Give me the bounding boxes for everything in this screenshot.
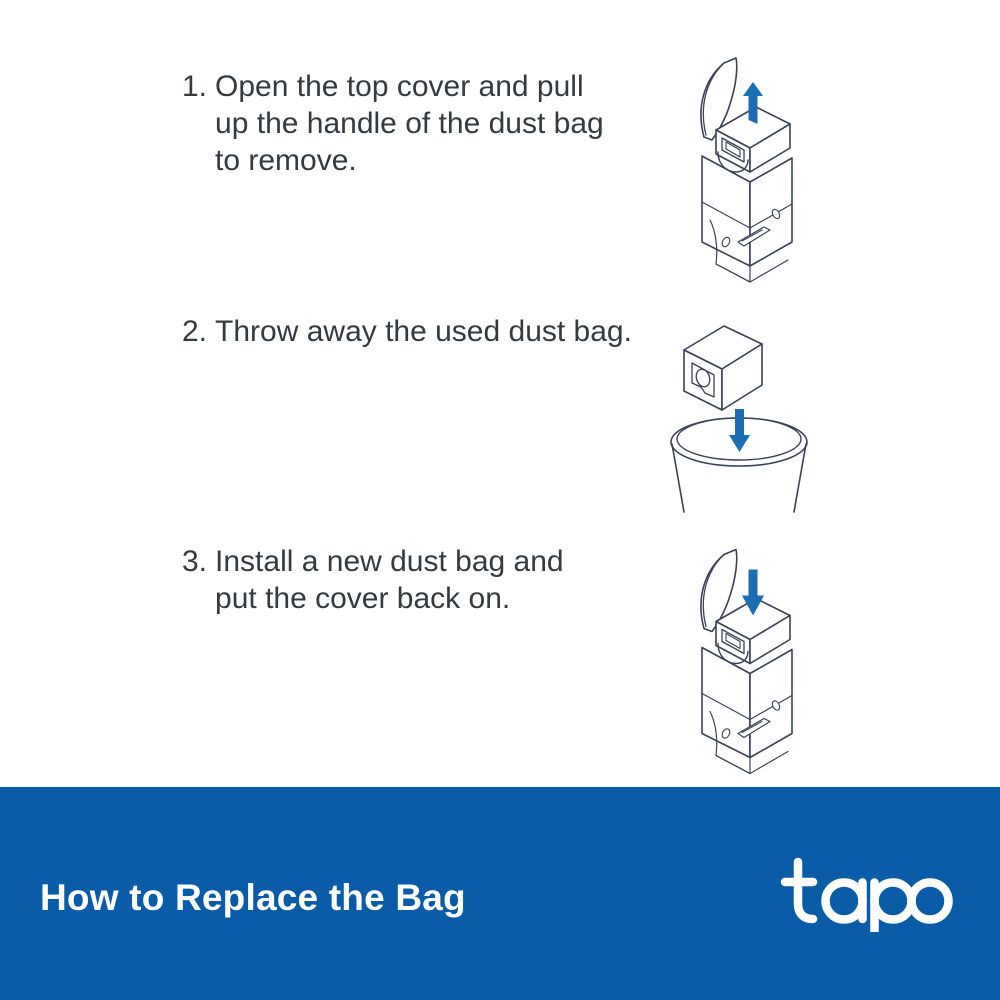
step-3: 3. Install a new dust bag and put the co… bbox=[0, 535, 1000, 787]
tapo-logo bbox=[778, 856, 954, 937]
step-1-number: 1. bbox=[182, 68, 215, 105]
dock-open-lid-bag-up-icon bbox=[660, 52, 810, 292]
step-1-body: Open the top cover and pull up the handl… bbox=[215, 68, 615, 179]
dock-open-lid-bag-down-icon bbox=[660, 541, 810, 786]
step-2-text: 2. Throw away the used dust bag. bbox=[0, 305, 640, 350]
step-1: 1. Open the top cover and pull up the ha… bbox=[0, 60, 1000, 300]
step-1-text: 1. Open the top cover and pull up the ha… bbox=[0, 60, 640, 179]
instruction-card-page: 1. Open the top cover and pull up the ha… bbox=[0, 0, 1000, 1000]
step-2-illustration bbox=[640, 305, 1000, 513]
footer-banner: How to Replace the Bag bbox=[0, 787, 1000, 1000]
steps-area: 1. Open the top cover and pull up the ha… bbox=[0, 0, 1000, 787]
step-3-number: 3. bbox=[182, 543, 215, 580]
step-3-text: 3. Install a new dust bag and put the co… bbox=[0, 535, 640, 617]
banner-title: How to Replace the Bag bbox=[40, 876, 466, 920]
step-2-body: Throw away the used dust bag. bbox=[215, 313, 632, 350]
step-2-number: 2. bbox=[182, 313, 215, 350]
step-3-illustration bbox=[640, 535, 1000, 786]
step-3-body: Install a new dust bag and put the cover… bbox=[215, 543, 575, 617]
tapo-wordmark-icon bbox=[778, 856, 954, 932]
dust-bag-into-trash-bin-icon bbox=[652, 313, 827, 513]
step-2: 2. Throw away the used dust bag. bbox=[0, 305, 1000, 530]
step-1-illustration bbox=[640, 60, 1000, 292]
